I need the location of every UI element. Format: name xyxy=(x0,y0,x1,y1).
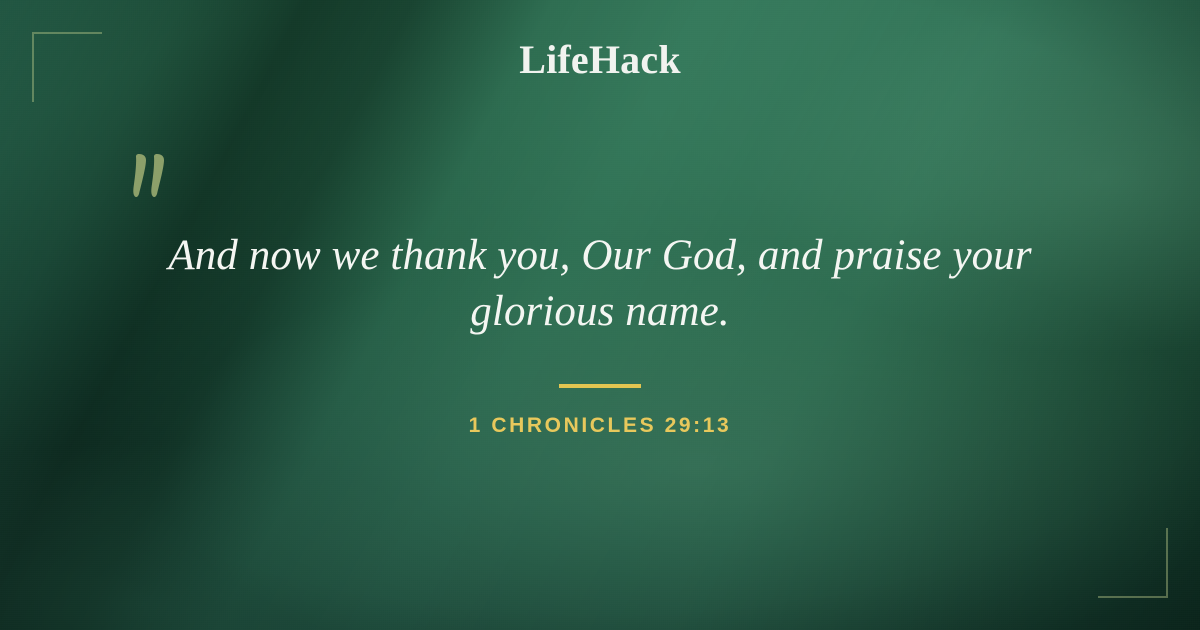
quote-text: And now we thank you, Our God, and prais… xyxy=(96,228,1104,340)
quote-mark-icon xyxy=(127,150,187,214)
divider xyxy=(559,384,641,388)
quote-attribution: 1 Chronicles 29:13 xyxy=(96,414,1104,438)
corner-bracket-bottom-right-icon xyxy=(1098,528,1168,598)
quote-content: And now we thank you, Our God, and prais… xyxy=(0,228,1200,438)
quote-card: LifeHack And now we thank you, Our God, … xyxy=(0,0,1200,630)
brand-logo: LifeHack xyxy=(0,38,1200,82)
brand-logo-label: LifeHack xyxy=(519,37,681,82)
